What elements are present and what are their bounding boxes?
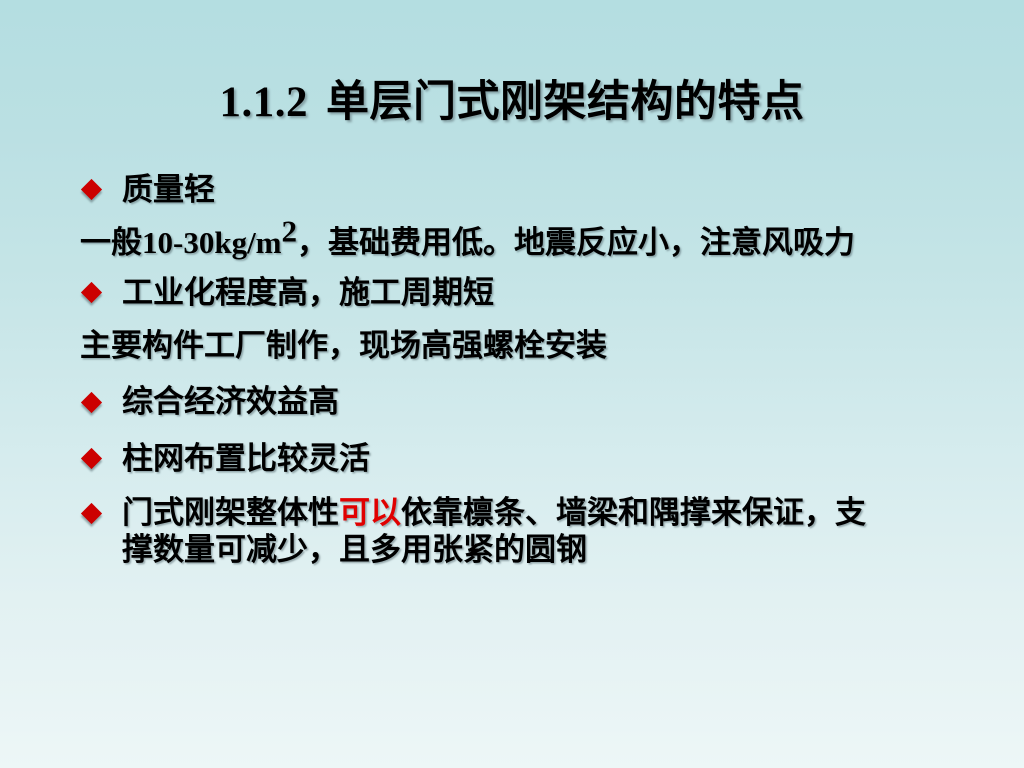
list-item-label: 综合经济效益高 bbox=[122, 384, 339, 419]
spacer bbox=[78, 477, 978, 495]
title-text: 单层门式刚架结构的特点 bbox=[326, 79, 805, 126]
list-item-label: 主要构件工厂制作，现场高强螺栓安装 bbox=[80, 328, 607, 363]
list-item-continuation: 撑数量可减少，且多用张紧的圆钢 bbox=[78, 532, 978, 569]
spacer bbox=[78, 312, 978, 328]
list-item-prefix: 一般 bbox=[80, 225, 142, 260]
highlighted-text: 可以 bbox=[339, 495, 401, 530]
list-item-text-part1: 门式刚架整体性 bbox=[122, 495, 339, 530]
spacer bbox=[78, 261, 978, 275]
list-item: 一般10-30kg/m2，基础费用低。地震反应小，注意风吸力 bbox=[78, 225, 978, 262]
spacer bbox=[78, 421, 978, 441]
list-item-label: 柱网布置比较灵活 bbox=[122, 441, 370, 476]
spacer bbox=[78, 209, 978, 225]
list-item-suffix: ，基础费用低。地震反应小，注意风吸力 bbox=[297, 225, 855, 260]
list-item-value: 10-30kg/m bbox=[142, 225, 282, 260]
presentation-slide: 1.1.2单层门式刚架结构的特点 质量轻 一般10-30kg/m2，基础费用低。… bbox=[0, 0, 1024, 768]
diamond-bullet-icon bbox=[81, 448, 102, 469]
page-title: 1.1.2单层门式刚架结构的特点 bbox=[220, 78, 805, 127]
list-item-label: 质量轻 bbox=[122, 172, 215, 207]
diamond-bullet-icon bbox=[81, 391, 102, 412]
spacer bbox=[78, 364, 978, 384]
list-item: 综合经济效益高 bbox=[78, 384, 978, 421]
slide-body: 质量轻 一般10-30kg/m2，基础费用低。地震反应小，注意风吸力 工业化程度… bbox=[78, 172, 978, 569]
list-item: 门式刚架整体性可以依靠檩条、墙梁和隅撑来保证，支 bbox=[78, 495, 978, 532]
title-number: 1.1.2 bbox=[220, 79, 309, 126]
list-item: 柱网布置比较灵活 bbox=[78, 441, 978, 478]
list-item-continuation-label: 撑数量可减少，且多用张紧的圆钢 bbox=[122, 532, 587, 569]
slide-title-block: 1.1.2单层门式刚架结构的特点 bbox=[0, 78, 1024, 127]
superscript-exponent: 2 bbox=[282, 213, 298, 248]
list-item-label: 工业化程度高，施工周期短 bbox=[122, 275, 494, 310]
list-item-text-part2: 依靠檩条、墙梁和隅撑来保证，支 bbox=[401, 495, 866, 530]
diamond-bullet-icon bbox=[81, 282, 102, 303]
diamond-bullet-icon bbox=[81, 179, 102, 200]
list-item: 工业化程度高，施工周期短 bbox=[78, 275, 978, 312]
list-item: 质量轻 bbox=[78, 172, 978, 209]
diamond-bullet-icon bbox=[81, 503, 102, 524]
list-item: 主要构件工厂制作，现场高强螺栓安装 bbox=[78, 328, 978, 365]
